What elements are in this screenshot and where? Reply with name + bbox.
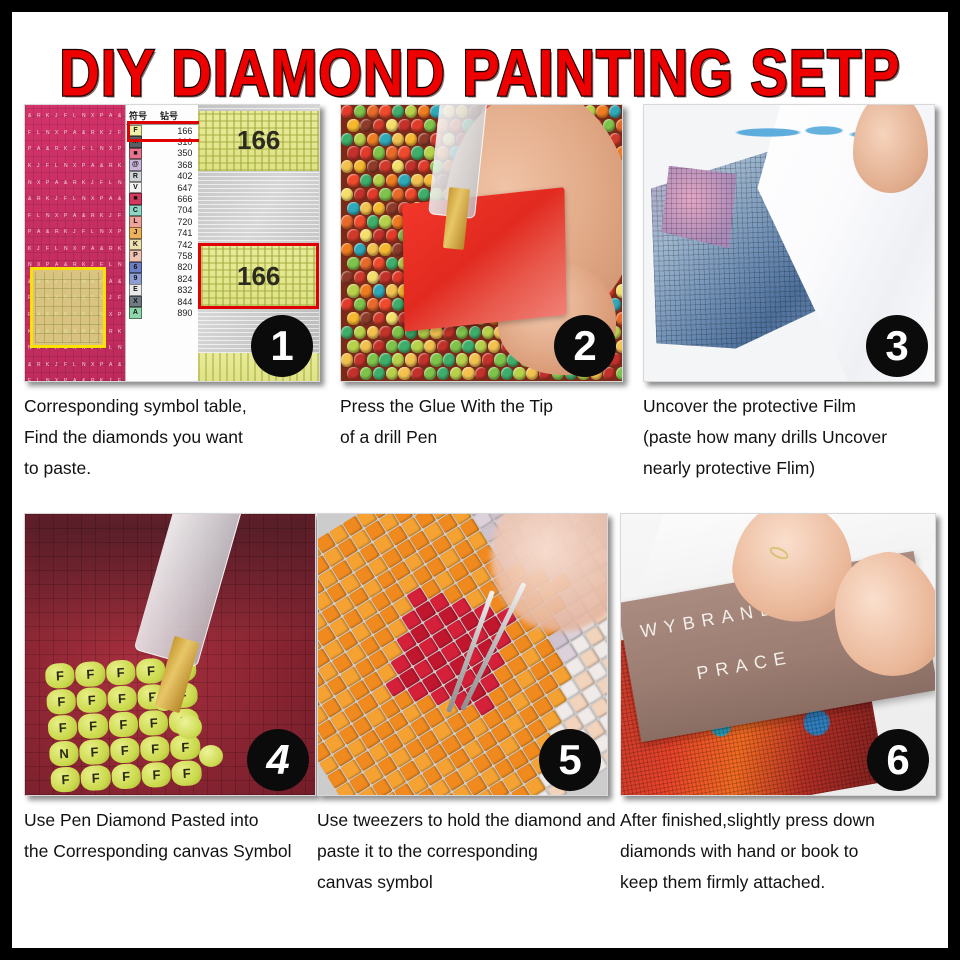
- canvas-symbol: N: [82, 113, 86, 119]
- canvas-symbol: X: [73, 163, 76, 169]
- diamond-bead: [386, 284, 398, 297]
- diamond-bead: [373, 174, 385, 187]
- diamond-bead: [411, 367, 423, 380]
- canvas-symbol: R: [73, 180, 77, 186]
- canvas-symbol: L: [91, 146, 94, 152]
- diamond-bead: [360, 312, 372, 325]
- diamond-bead: [405, 133, 417, 146]
- drill-code: 820: [145, 262, 197, 272]
- canvas-symbol: J: [109, 378, 112, 381]
- canvas-symbol: J: [55, 113, 58, 119]
- canvas-symbol: L: [73, 362, 76, 368]
- canvas-symbol: &: [28, 196, 31, 202]
- step-3-caption: Uncover the protective Film (paste how m…: [643, 391, 935, 484]
- diamond-bead: [379, 298, 391, 311]
- canvas-symbol: R: [109, 246, 113, 252]
- canvas-symbol: F: [64, 113, 67, 119]
- diamond-bead: [341, 298, 353, 311]
- canvas-symbol: P: [118, 146, 121, 152]
- diamond-bead: [494, 353, 506, 366]
- pasted-diamond: F: [46, 689, 77, 716]
- diamond-bead: [373, 257, 385, 270]
- canvas-symbol: F: [118, 378, 121, 381]
- symbol-swatch: E: [129, 284, 142, 296]
- canvas-symbol: J: [37, 163, 40, 169]
- diamond-bead: [418, 133, 430, 146]
- diamond-bead: [354, 326, 366, 339]
- red-highlight-row: [127, 121, 201, 142]
- loose-diamond: [176, 715, 202, 739]
- diamond-bead: [347, 174, 359, 187]
- drill-code: 350: [145, 148, 197, 158]
- canvas-symbol: L: [37, 130, 40, 136]
- canvas-symbol: X: [55, 378, 58, 381]
- step-5-caption: Use tweezers to hold the diamond and pas…: [317, 805, 608, 898]
- canvas-symbol: R: [37, 196, 41, 202]
- canvas-symbol: P: [64, 378, 67, 381]
- diamond-bead: [367, 326, 379, 339]
- diamond-bead: [373, 340, 385, 353]
- diamond-bead: [456, 353, 468, 366]
- canvas-symbol: K: [100, 378, 103, 381]
- canvas-symbol: L: [109, 180, 112, 186]
- diamond-bead: [488, 340, 500, 353]
- canvas-symbol: N: [46, 213, 50, 219]
- pasted-diamond: F: [81, 765, 112, 792]
- diamond-bead: [443, 326, 455, 339]
- canvas-symbol: J: [109, 295, 112, 301]
- caption-line: Uncover the protective Film: [643, 391, 935, 422]
- pasted-diamond: N: [49, 741, 80, 768]
- diamond-bead: [405, 105, 417, 118]
- diamond-bead: [373, 119, 385, 132]
- diamond-bead: [367, 133, 379, 146]
- canvas-symbol: K: [82, 180, 85, 186]
- step-badge-6: 6: [867, 729, 929, 791]
- diamond-bead: [392, 353, 404, 366]
- drill-code: 368: [145, 160, 197, 170]
- caption-line: of a drill Pen: [340, 422, 623, 453]
- canvas-symbol: K: [64, 229, 67, 235]
- diamond-bead: [379, 215, 391, 228]
- drill-code: 720: [145, 217, 197, 227]
- canvas-symbol: X: [55, 130, 58, 136]
- diamond-bead: [379, 188, 391, 201]
- diamond-bead: [386, 174, 398, 187]
- canvas-symbol: N: [100, 229, 104, 235]
- canvas-symbol: &: [118, 113, 121, 119]
- canvas-symbol: K: [118, 246, 121, 252]
- caption-line: paste it to the corresponding: [317, 836, 608, 867]
- step-card-1: &RKJFLNXPA&FLNXPA&RKJFPA&RKJFLNXPKJFLNXP…: [24, 104, 320, 484]
- caption-line: keep them firmly attached.: [620, 867, 936, 898]
- diamond-bead: [443, 353, 455, 366]
- pasted-diamond: F: [45, 663, 76, 690]
- diamond-bead: [386, 312, 398, 325]
- diamond-bead: [341, 133, 353, 146]
- canvas-symbol: L: [37, 213, 40, 219]
- canvas-symbol: K: [46, 196, 49, 202]
- caption-line: the Corresponding canvas Symbol: [24, 836, 316, 867]
- canvas-symbol: X: [73, 246, 76, 252]
- diamond-bead: [424, 367, 436, 380]
- canvas-symbol: K: [118, 163, 121, 169]
- diamond-bead: [347, 312, 359, 325]
- canvas-symbol: R: [55, 229, 59, 235]
- diamond-bead: [367, 188, 379, 201]
- diamond-bead: [347, 202, 359, 215]
- canvas-symbol: A: [109, 362, 112, 368]
- symbol-swatch: X: [129, 296, 142, 308]
- diamond-bead: [398, 119, 410, 132]
- diamond-bead: [379, 353, 391, 366]
- symbol-swatch: @: [129, 159, 142, 171]
- canvas-symbol: K: [118, 329, 121, 335]
- diamond-bead: [373, 367, 385, 380]
- diamond-bead: [418, 105, 430, 118]
- symbol-swatch: C: [129, 205, 142, 217]
- pasted-diamond: F: [107, 685, 138, 712]
- step-badge-1: 1: [251, 315, 313, 377]
- pasted-diamond: F: [79, 739, 110, 766]
- diamond-bead: [360, 229, 372, 242]
- canvas-symbol: N: [118, 180, 122, 186]
- diamond-bead: [513, 367, 525, 380]
- canvas-symbol: A: [109, 279, 112, 285]
- canvas-symbol: X: [109, 312, 112, 318]
- diamond-bead: [354, 243, 366, 256]
- table-row: K742: [126, 239, 200, 250]
- canvas-symbol: X: [109, 146, 112, 152]
- canvas-symbol: J: [109, 213, 112, 219]
- canvas-symbol: J: [73, 146, 76, 152]
- canvas-symbol: R: [37, 362, 41, 368]
- diamond-bead: [379, 271, 391, 284]
- yellow-highlight-box: [30, 267, 106, 348]
- symbol-swatch: A: [129, 307, 142, 319]
- canvas-symbol: A: [91, 246, 94, 252]
- diamond-bead: [373, 284, 385, 297]
- diamond-bead: [398, 174, 410, 187]
- canvas-symbol: &: [82, 213, 85, 219]
- step-card-4: FFFFFFFFFFFFFFFNFFFFFFFFF 4 Use Pen Diam…: [24, 513, 316, 867]
- diamond-bead: [354, 353, 366, 366]
- drill-code: 666: [145, 194, 197, 204]
- canvas-symbol: J: [109, 130, 112, 136]
- drill-code: 844: [145, 297, 197, 307]
- canvas-symbol: &: [46, 229, 49, 235]
- canvas-symbol: J: [91, 180, 94, 186]
- table-row: ■350: [126, 148, 200, 159]
- canvas-symbol: P: [28, 146, 31, 152]
- canvas-symbol: &: [118, 196, 121, 202]
- caption-line: Find the diamonds you want: [24, 422, 320, 453]
- diamond-bead: [360, 146, 372, 159]
- canvas-symbol: F: [118, 130, 121, 136]
- diamond-bead: [616, 312, 622, 325]
- step-card-6: WYBRANE PRACE 6 After finished,slightly …: [620, 513, 936, 898]
- drill-code: 742: [145, 240, 197, 250]
- book-title-line-2: PRACE: [695, 647, 794, 685]
- canvas-symbol: P: [64, 130, 67, 136]
- poster-page: DIY DIAMOND PAINTING SETP &RKJFLNXPA&FLN…: [12, 12, 948, 948]
- canvas-symbol: L: [37, 378, 40, 381]
- canvas-symbol: A: [91, 163, 94, 169]
- diamond-bead: [354, 188, 366, 201]
- diamond-bead: [373, 202, 385, 215]
- drill-code: 824: [145, 274, 197, 284]
- diamond-bead: [367, 298, 379, 311]
- diamond-bead: [424, 340, 436, 353]
- canvas-symbol: &: [118, 279, 121, 285]
- pasted-diamond: F: [111, 764, 142, 791]
- canvas-symbol: X: [55, 213, 58, 219]
- canvas-symbol: X: [37, 180, 40, 186]
- diamond-bead: [411, 340, 423, 353]
- diamond-bead: [482, 326, 494, 339]
- diamond-bead: [341, 326, 353, 339]
- table-body: F166m310■350@368R402V647■666C704L720J741…: [126, 125, 200, 319]
- diamond-bead: [347, 229, 359, 242]
- diamond-bead: [341, 215, 353, 228]
- symbol-swatch: ■: [129, 148, 142, 160]
- canvas-symbol: N: [100, 146, 104, 152]
- canvas-symbol: F: [64, 196, 67, 202]
- diamond-bead: [347, 367, 359, 380]
- diamond-bead: [379, 326, 391, 339]
- diamond-bead: [456, 326, 468, 339]
- table-row: A890: [126, 307, 200, 318]
- caption-line: canvas symbol: [317, 867, 608, 898]
- canvas-symbol: F: [118, 295, 121, 301]
- canvas-symbol: R: [37, 113, 41, 119]
- step-badge-5: 5: [539, 729, 601, 791]
- canvas-symbol: P: [64, 213, 67, 219]
- diamond-bead: [347, 284, 359, 297]
- diamond-bead: [392, 160, 404, 173]
- canvas-symbol: F: [100, 180, 103, 186]
- canvas-symbol: R: [109, 163, 113, 169]
- diamond-bead: [386, 367, 398, 380]
- canvas-symbol: F: [28, 130, 31, 136]
- canvas-symbol: P: [100, 113, 103, 119]
- diamond-bead: [341, 160, 353, 173]
- table-row: ■666: [126, 193, 200, 204]
- canvas-symbol: P: [82, 163, 85, 169]
- symbol-swatch: L: [129, 216, 142, 228]
- canvas-symbol: K: [64, 146, 67, 152]
- diamond-bead: [360, 202, 372, 215]
- canvas-symbol: &: [100, 246, 103, 252]
- symbol-swatch: J: [129, 227, 142, 239]
- diamond-bead: [341, 105, 353, 118]
- canvas-symbol: K: [100, 213, 103, 219]
- canvas-symbol: K: [46, 113, 49, 119]
- step-2-caption: Press the Glue With the Tip of a drill P…: [340, 391, 623, 453]
- diamond-bead: [367, 353, 379, 366]
- diamond-bead: [386, 202, 398, 215]
- diamond-bead: [450, 367, 462, 380]
- canvas-symbol: &: [28, 113, 31, 119]
- step-card-2: 2 Press the Glue With the Tip of a drill…: [340, 104, 623, 453]
- diamond-bead: [418, 353, 430, 366]
- symbol-swatch: ■: [129, 193, 142, 205]
- canvas-symbol: X: [91, 113, 94, 119]
- poster-title-container: DIY DIAMOND PAINTING SETP: [12, 34, 948, 99]
- drill-code: 890: [145, 308, 197, 318]
- bead-row-top: 166: [198, 111, 319, 172]
- canvas-symbol: L: [91, 229, 94, 235]
- step-badge-2: 2: [554, 315, 616, 377]
- canvas-symbol: A: [37, 146, 40, 152]
- canvas-symbol: L: [109, 262, 112, 268]
- canvas-symbol: N: [82, 362, 86, 368]
- steps-row-top: &RKJFLNXPA&FLNXPA&RKJFPA&RKJFLNXPKJFLNXP…: [12, 104, 948, 504]
- step-4-caption: Use Pen Diamond Pasted into the Correspo…: [24, 805, 316, 867]
- pasted-diamond: F: [77, 687, 108, 714]
- steps-row-bottom: FFFFFFFFFFFFFFFNFFFFFFFFF 4 Use Pen Diam…: [12, 513, 948, 933]
- canvas-symbol: J: [73, 229, 76, 235]
- canvas-symbol: &: [64, 180, 67, 186]
- canvas-symbol: N: [118, 345, 122, 351]
- diamond-bead: [411, 146, 423, 159]
- canvas-symbol: K: [28, 163, 31, 169]
- canvas-symbol: J: [37, 246, 40, 252]
- canvas-symbol: A: [73, 130, 76, 136]
- canvas-symbol: A: [73, 378, 76, 381]
- diamond-bead: [437, 367, 449, 380]
- canvas-symbol: L: [109, 345, 112, 351]
- canvas-symbol: A: [109, 113, 112, 119]
- diamond-bead: [392, 105, 404, 118]
- diamond-bead: [360, 284, 372, 297]
- canvas-symbol: F: [82, 229, 85, 235]
- diamond-bead: [360, 340, 372, 353]
- symbol-swatch: K: [129, 239, 142, 251]
- steps-grid: &RKJFLNXPA&FLNXPA&RKJFPA&RKJFLNXPKJFLNXP…: [12, 104, 948, 933]
- drill-code: 704: [145, 205, 197, 215]
- diamond-bead: [367, 271, 379, 284]
- diamond-bead: [386, 146, 398, 159]
- diamond-bead: [398, 340, 410, 353]
- step-3-photo: 3: [643, 104, 935, 382]
- pasted-diamond: F: [172, 760, 203, 787]
- symbol-swatch: P: [129, 250, 142, 262]
- diamond-bead: [392, 188, 404, 201]
- diamond-bead: [450, 340, 462, 353]
- pasted-diamond: F: [108, 711, 139, 738]
- diamond-bead: [482, 353, 494, 366]
- diamond-bead: [367, 215, 379, 228]
- canvas-symbol: N: [46, 130, 50, 136]
- diamond-bead: [354, 271, 366, 284]
- diamond-bead: [501, 367, 513, 380]
- diamond-bead: [418, 160, 430, 173]
- printed-canvas: &RKJFLNXPA&FLNXPA&RKJFPA&RKJFLNXPKJFLNXP…: [25, 105, 125, 381]
- canvas-symbol: K: [100, 130, 103, 136]
- canvas-symbol: &: [82, 378, 85, 381]
- diamond-bead: [616, 284, 622, 297]
- diamond-bead: [462, 367, 474, 380]
- symbol-swatch: V: [129, 182, 142, 194]
- diamond-bead: [360, 257, 372, 270]
- canvas-symbol: &: [46, 146, 49, 152]
- step-5-photo: 5: [317, 513, 608, 796]
- table-row: 9824: [126, 273, 200, 284]
- canvas-symbol: K: [46, 362, 49, 368]
- diamond-bead: [437, 340, 449, 353]
- bead-row-highlighted: 166: [198, 243, 319, 309]
- caption-line: diamonds with hand or book to: [620, 836, 936, 867]
- canvas-symbol: P: [28, 229, 31, 235]
- drill-code: 402: [145, 171, 197, 181]
- canvas-symbol: L: [73, 196, 76, 202]
- diamond-bead: [354, 133, 366, 146]
- diamond-bead: [367, 105, 379, 118]
- canvas-symbol: X: [91, 196, 94, 202]
- diamond-bead: [392, 326, 404, 339]
- table-row: R402: [126, 171, 200, 182]
- diamond-bead: [341, 188, 353, 201]
- caption-line: to paste.: [24, 453, 320, 484]
- canvas-symbol: L: [55, 163, 58, 169]
- diamond-bead: [379, 160, 391, 173]
- diamond-bead: [354, 215, 366, 228]
- diamond-bead: [360, 367, 372, 380]
- canvas-symbol: N: [64, 246, 68, 252]
- step-1-caption: Corresponding symbol table, Find the dia…: [24, 391, 320, 484]
- table-row: @368: [126, 159, 200, 170]
- caption-line: (paste how many drills Uncover: [643, 422, 935, 453]
- symbol-swatch: R: [129, 171, 142, 183]
- diamond-bead: [360, 174, 372, 187]
- pasted-diamond: F: [141, 762, 172, 789]
- diamond-bead: [469, 326, 481, 339]
- pasted-diamond: F: [106, 659, 137, 686]
- diamond-bead: [373, 229, 385, 242]
- pasted-diamond: F: [50, 767, 81, 794]
- canvas-symbol: &: [28, 362, 31, 368]
- pasted-diamond: F: [48, 715, 79, 742]
- canvas-symbol: F: [46, 163, 49, 169]
- diamond-bead: [596, 105, 608, 118]
- canvas-symbol: N: [118, 262, 122, 268]
- canvas-symbol: R: [91, 130, 95, 136]
- drill-code: 741: [145, 228, 197, 238]
- canvas-symbol: A: [73, 213, 76, 219]
- diamond-bead: [379, 105, 391, 118]
- diamond-bead: [386, 340, 398, 353]
- canvas-symbol: N: [82, 196, 86, 202]
- canvas-symbol: X: [109, 229, 112, 235]
- table-row: P758: [126, 250, 200, 261]
- canvas-symbol: X: [91, 362, 94, 368]
- diamond-bead: [386, 257, 398, 270]
- canvas-symbol: F: [46, 246, 49, 252]
- table-row: V647: [126, 182, 200, 193]
- canvas-symbol: P: [100, 196, 103, 202]
- canvas-symbol: F: [118, 213, 121, 219]
- fingers-peeling: [853, 105, 928, 193]
- canvas-symbol: J: [55, 196, 58, 202]
- diamond-bead: [360, 119, 372, 132]
- canvas-symbol: K: [28, 246, 31, 252]
- pasted-diamond: F: [140, 736, 171, 763]
- diamond-bead: [347, 340, 359, 353]
- drill-code: 832: [145, 285, 197, 295]
- table-row: L720: [126, 216, 200, 227]
- diamond-bead: [405, 353, 417, 366]
